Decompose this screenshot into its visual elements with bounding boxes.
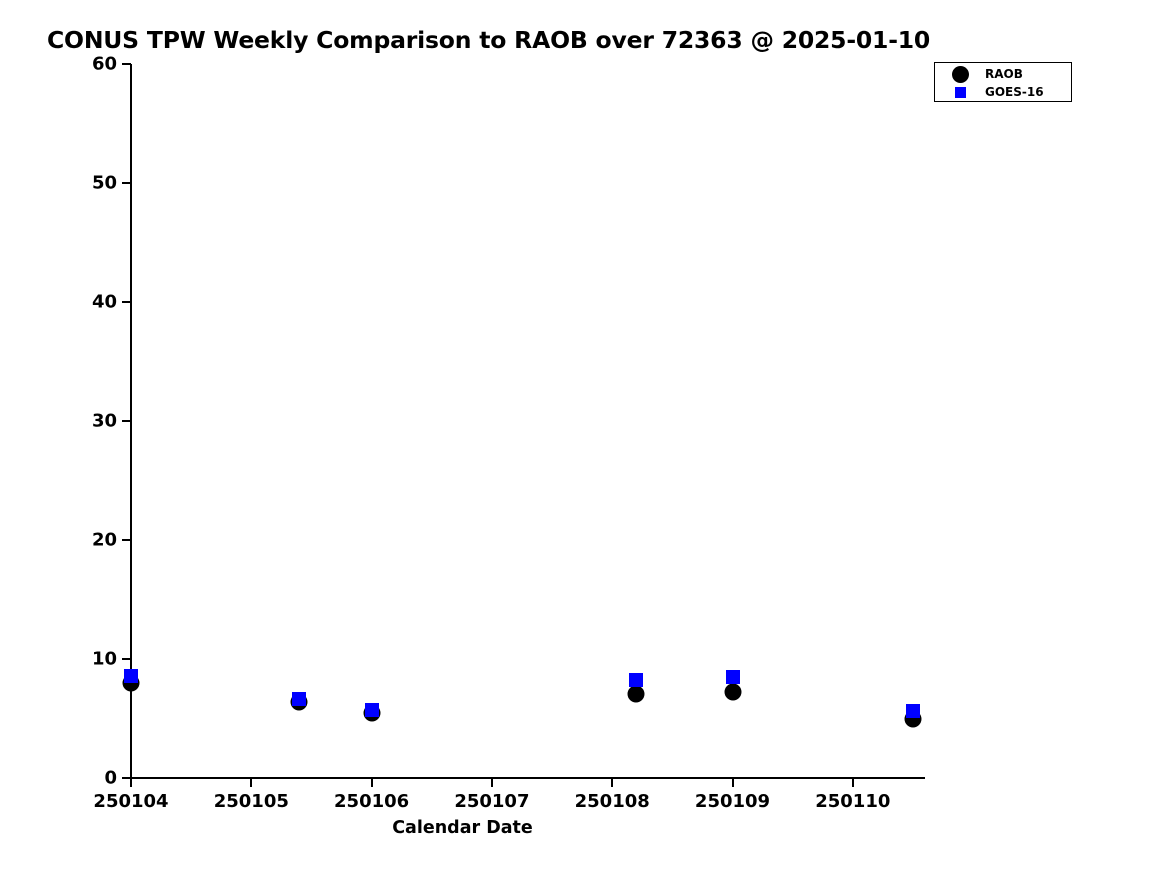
x-axis-tick — [371, 778, 373, 787]
y-axis-tick-label: 0 — [104, 768, 117, 789]
x-axis-tick — [732, 778, 734, 787]
y-axis-tick-label: 20 — [92, 530, 117, 551]
chart-legend: RAOB GOES-16 — [934, 62, 1072, 102]
plot-area: 0102030405060250104250105250106250107250… — [131, 64, 925, 778]
circle-marker-icon — [935, 66, 985, 83]
data-point-goes-16 — [906, 704, 920, 718]
y-axis-tick-label: 50 — [92, 173, 117, 194]
x-axis-tick — [852, 778, 854, 787]
data-point-goes-16 — [292, 692, 306, 706]
x-axis-tick-label: 250109 — [695, 791, 770, 812]
chart-figure: CONUS TPW Weekly Comparison to RAOB over… — [0, 0, 1167, 875]
data-point-goes-16 — [629, 673, 643, 687]
x-axis-tick-label: 250110 — [815, 791, 890, 812]
y-axis-tick — [122, 301, 131, 303]
data-point-raob — [724, 684, 741, 701]
y-axis-tick-label: 30 — [92, 411, 117, 432]
y-axis-tick-label: 60 — [92, 54, 117, 75]
data-point-goes-16 — [365, 703, 379, 717]
y-axis-tick — [122, 63, 131, 65]
x-axis-tick-label: 250108 — [575, 791, 650, 812]
legend-entry-raob: RAOB — [935, 64, 1071, 84]
x-axis-tick-label: 250105 — [214, 791, 289, 812]
y-axis-tick — [122, 420, 131, 422]
y-axis-tick-label: 40 — [92, 292, 117, 313]
legend-label-goes16: GOES-16 — [985, 85, 1044, 99]
data-point-raob — [628, 685, 645, 702]
y-axis-tick — [122, 539, 131, 541]
data-point-goes-16 — [124, 669, 138, 683]
x-axis-tick — [491, 778, 493, 787]
y-axis-tick — [122, 658, 131, 660]
legend-entry-goes16: GOES-16 — [935, 82, 1071, 102]
data-point-goes-16 — [726, 670, 740, 684]
legend-label-raob: RAOB — [985, 67, 1023, 81]
x-axis-tick-label: 250107 — [454, 791, 529, 812]
y-axis-tick-label: 10 — [92, 649, 117, 670]
x-axis-tick — [250, 778, 252, 787]
x-axis-tick — [130, 778, 132, 787]
x-axis-tick-label: 250104 — [93, 791, 168, 812]
x-axis-tick-label: 250106 — [334, 791, 409, 812]
chart-title: CONUS TPW Weekly Comparison to RAOB over… — [47, 26, 930, 54]
square-marker-icon — [935, 87, 985, 98]
y-axis-tick — [122, 182, 131, 184]
x-axis-tick — [611, 778, 613, 787]
x-axis-label: Calendar Date — [0, 818, 925, 838]
